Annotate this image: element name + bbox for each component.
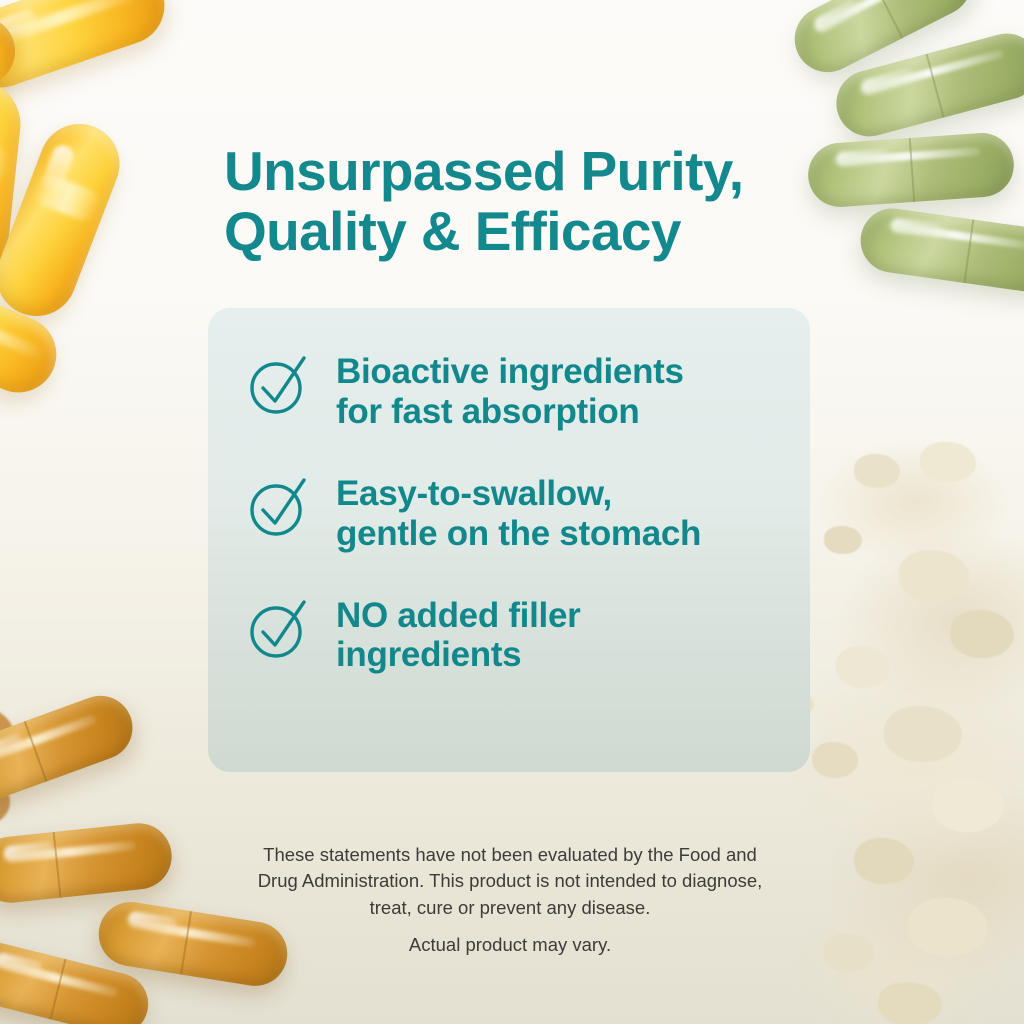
softgel-capsule (0, 0, 175, 98)
check-circle-icon (246, 596, 312, 662)
green-capsule (857, 204, 1024, 295)
page-title: Unsurpassed Purity, Quality & Efficacy (224, 141, 824, 262)
softgel-capsule (0, 112, 131, 327)
check-circle-icon (246, 474, 312, 540)
benefit-item: Easy-to-swallow, gentle on the stomach (246, 472, 784, 554)
benefits-list: Bioactive ingredients for fast absorptio… (246, 350, 784, 675)
headline-line-2: Quality & Efficacy (224, 201, 824, 262)
yellow-softgel-capsules (0, 0, 240, 430)
benefits-card: Bioactive ingredients for fast absorptio… (208, 308, 810, 772)
turmeric-capsule (0, 936, 155, 1024)
turmeric-capsule (0, 687, 141, 809)
benefit-item: NO added filler ingredients (246, 594, 784, 676)
softgel-capsule (0, 76, 25, 294)
product-variance-note: Actual product may vary. (212, 932, 808, 958)
green-capsule (783, 0, 982, 84)
benefit-item: Bioactive ingredients for fast absorptio… (246, 350, 784, 432)
benefit-label: Bioactive ingredients for fast absorptio… (336, 350, 684, 432)
product-benefits-graphic: Unsurpassed Purity, Quality & Efficacy B… (0, 0, 1024, 1024)
turmeric-capsule (0, 820, 175, 906)
fda-disclaimer: These statements have not been evaluated… (212, 842, 808, 921)
benefit-label: Easy-to-swallow, gentle on the stomach (336, 472, 701, 554)
softgel-capsule (0, 268, 68, 404)
headline-line-1: Unsurpassed Purity, (224, 140, 743, 202)
benefit-label: NO added filler ingredients (336, 594, 580, 676)
green-capsule (806, 131, 1016, 209)
softgel-capsule (0, 4, 27, 122)
spilled-powder (0, 776, 10, 828)
spilled-powder (0, 704, 14, 766)
green-capsule (829, 26, 1024, 144)
check-circle-icon (246, 352, 312, 418)
